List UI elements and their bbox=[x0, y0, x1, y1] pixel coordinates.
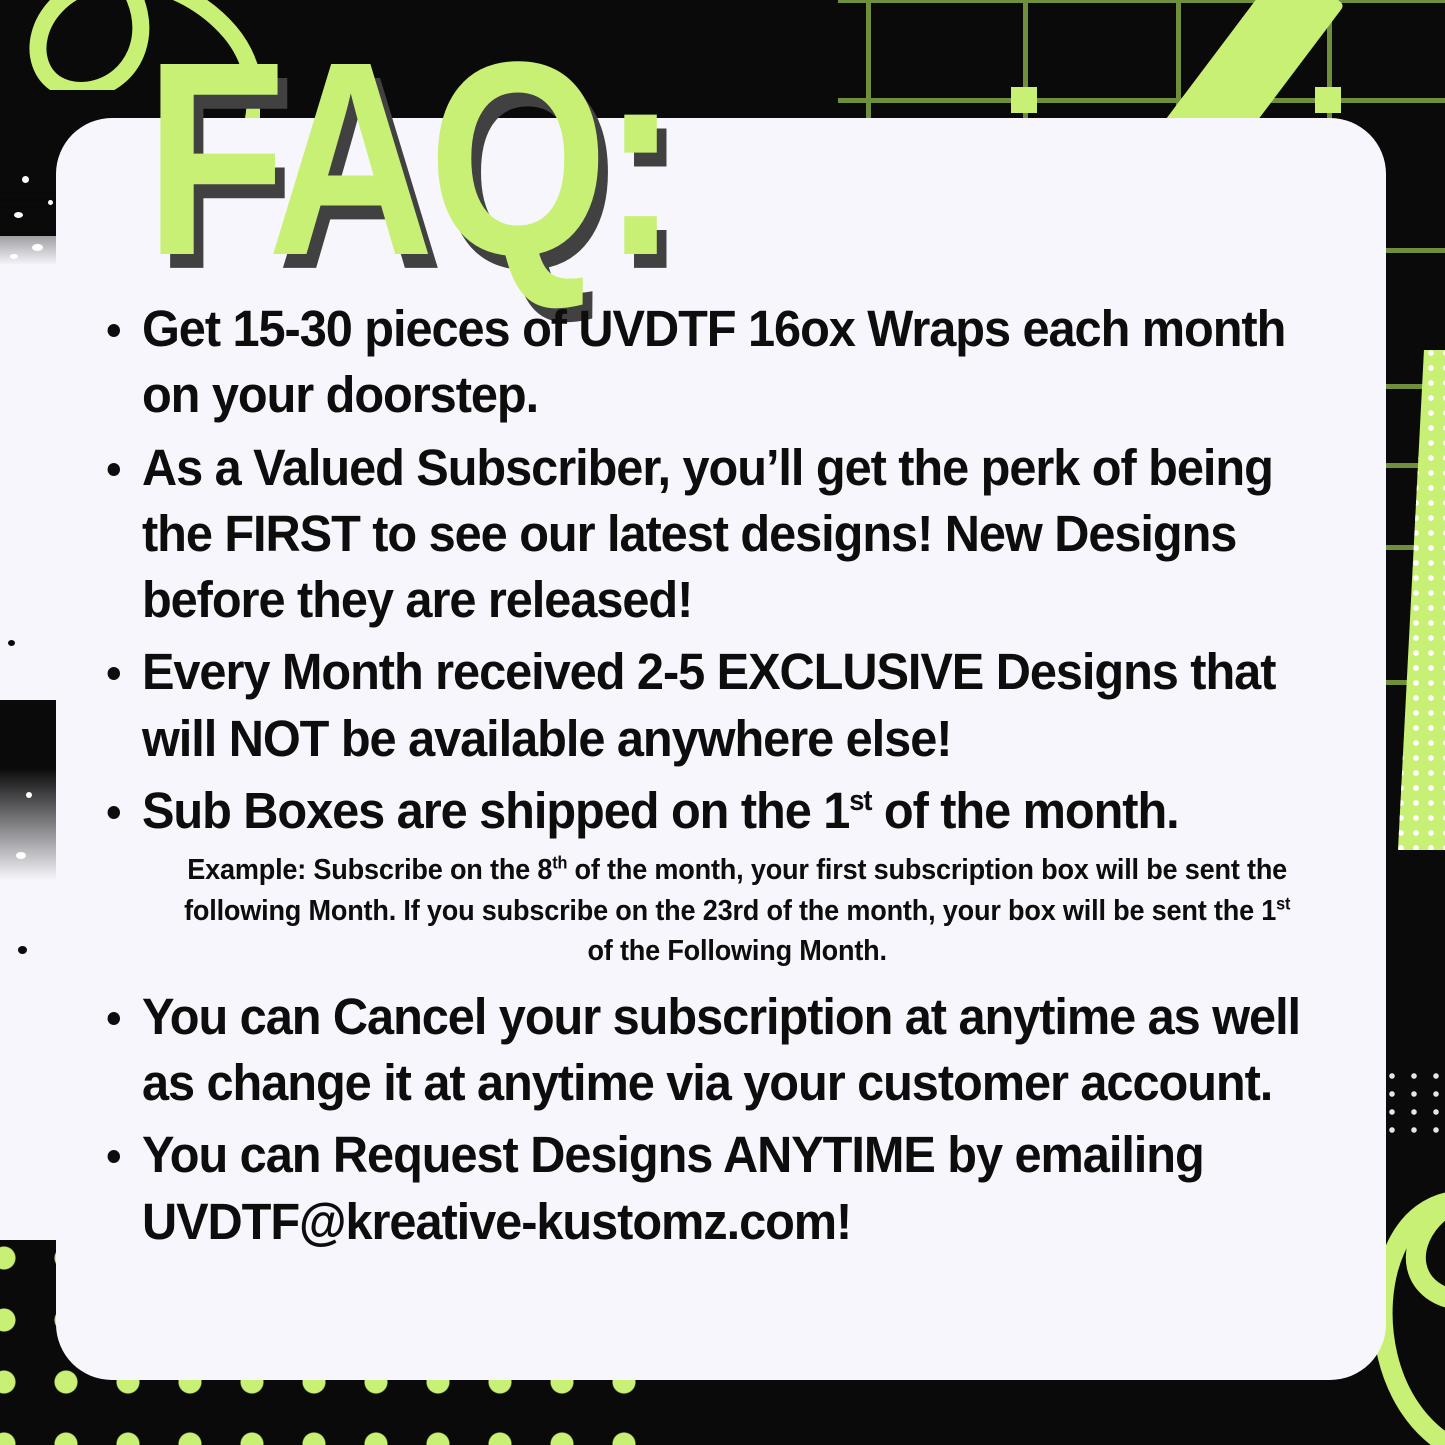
faq-item-cancel-anytime: You can Cancel your subscription at anyt… bbox=[56, 984, 1326, 1117]
faq-item-text-before: Sub Boxes are shipped on the 1 bbox=[142, 782, 849, 839]
note-part-3: of the Following Month. bbox=[587, 935, 886, 967]
ordinal-suffix-st: st bbox=[1276, 894, 1290, 913]
faq-item-exclusive-designs: Every Month received 2-5 EXCLUSIVE Desig… bbox=[56, 639, 1326, 772]
faq-item-valued-subscriber-perk: As a Valued Subscriber, you’ll get the p… bbox=[56, 435, 1326, 634]
ordinal-suffix: st bbox=[849, 785, 871, 817]
grid-node bbox=[1315, 87, 1341, 113]
faq-item-text: Every Month received 2-5 EXCLUSIVE Desig… bbox=[142, 643, 1275, 766]
faq-poster: FAQ: Get 15-30 pieces of UVDTF 16ox Wrap… bbox=[0, 0, 1445, 1445]
faq-list: Get 15-30 pieces of UVDTF 16ox Wraps eac… bbox=[56, 296, 1386, 1255]
grid-node bbox=[1011, 87, 1037, 113]
faq-item-pieces-per-month: Get 15-30 pieces of UVDTF 16ox Wraps eac… bbox=[56, 296, 1326, 429]
note-part-1: Example: Subscribe on the 8 bbox=[187, 854, 552, 886]
faq-item-text: As a Valued Subscriber, you’ll get the p… bbox=[142, 439, 1273, 629]
faq-item-text: You can Request Designs ANYTIME by email… bbox=[142, 1126, 1204, 1249]
faq-note-shipping-example: Example: Subscribe on the 8th of the mon… bbox=[89, 850, 1353, 971]
faq-item-text: You can Cancel your subscription at anyt… bbox=[142, 988, 1300, 1111]
faq-content: Get 15-30 pieces of UVDTF 16ox Wraps eac… bbox=[56, 296, 1386, 1261]
faq-item-shipping-date: Sub Boxes are shipped on the 1st of the … bbox=[56, 778, 1326, 844]
faq-item-text-after: of the month. bbox=[871, 782, 1178, 839]
ordinal-suffix-th: th bbox=[552, 854, 567, 873]
faq-item-request-designs: You can Request Designs ANYTIME by email… bbox=[56, 1122, 1326, 1255]
faq-item-text: Get 15-30 pieces of UVDTF 16ox Wraps eac… bbox=[142, 300, 1285, 423]
